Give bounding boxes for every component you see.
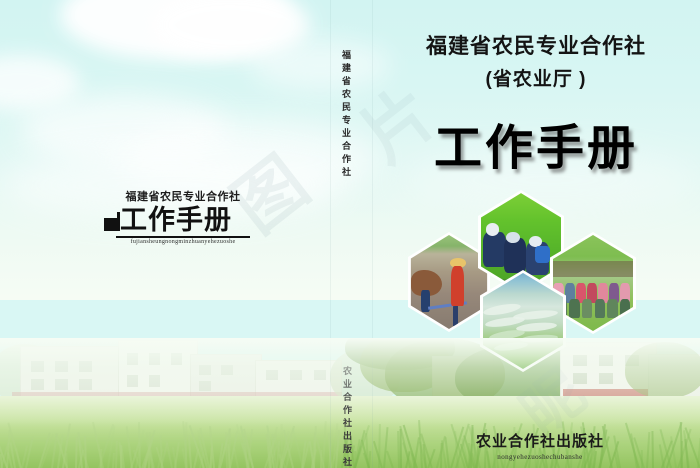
- spine-title-text: 福建省农民专业合作社: [340, 50, 353, 180]
- back-logo-title: 工作手册: [120, 207, 232, 234]
- photo-buffalo-plowing: [408, 232, 490, 332]
- village-landscape-photo: [0, 338, 700, 468]
- front-cover-org-line1: 福建省农民专业合作社: [412, 30, 660, 60]
- back-logo-main-row: 工作手册: [104, 207, 254, 234]
- corner-mark-icon: [104, 218, 117, 231]
- front-cover-org-line2: (省农业厅 ): [412, 64, 660, 91]
- logo-underline: [116, 236, 250, 238]
- cloud-shape: [250, 40, 390, 90]
- front-cover-main-title: 工作手册: [404, 108, 668, 178]
- back-logo-subtitle: 福建省农民专业合作社: [112, 192, 254, 203]
- landscape-haze-overlay: [0, 338, 700, 468]
- book-cover-spread: 图 片 昵 福建省农民专业合作社 农业合作社出版社 福建省农民专业合作社 工作手…: [0, 0, 700, 468]
- hex-photo-inner: [408, 232, 490, 332]
- back-logo-pinyin: fujiansheungnongminzhuanyehezuoshe: [116, 239, 250, 245]
- back-cover-logo: 福建省农民专业合作社 工作手册 fujiansheungnongminzhuan…: [104, 192, 254, 245]
- hex-photo-buffalo-plowing: [408, 232, 490, 332]
